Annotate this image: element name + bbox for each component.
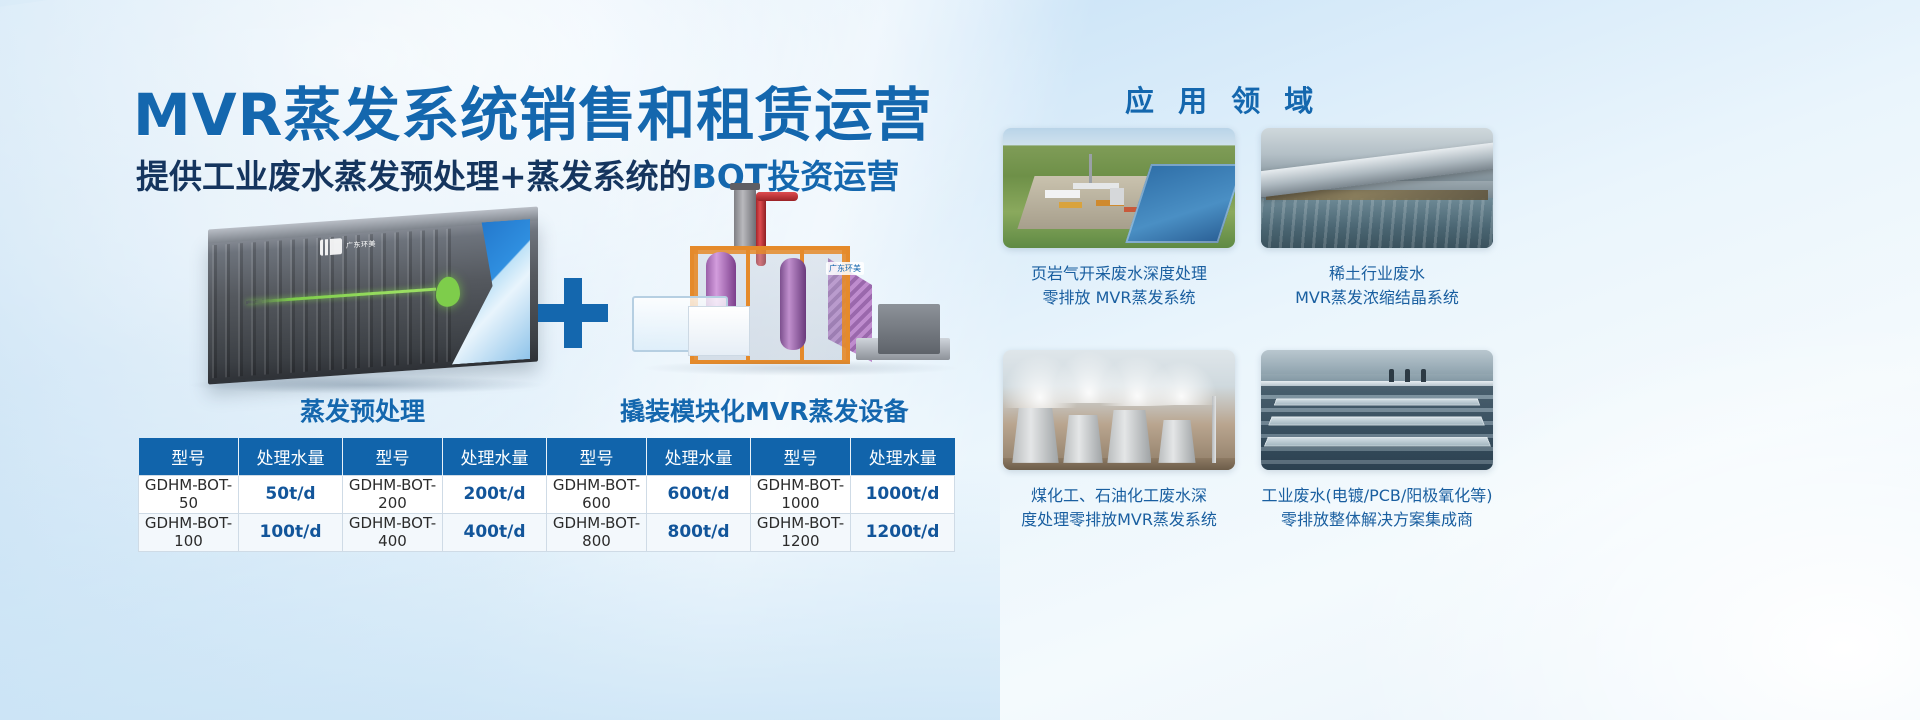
brand-name-label-2: 广东环美 (826, 262, 864, 275)
table-cell-model: GDHM-BOT-200 (343, 475, 443, 513)
table-cell-capacity: 1000t/d (851, 475, 955, 513)
application-card-caption: 工业废水(电镀/PCB/阳极氧化等) 零排放整体解决方案集成商 (1261, 484, 1493, 532)
table-cell-capacity: 800t/d (647, 513, 751, 551)
table-cell-capacity: 200t/d (443, 475, 547, 513)
table-header-cell: 型号 (343, 438, 443, 475)
shale-gas-site-image (1003, 128, 1235, 248)
applications-title: 应 用 领 域 (1125, 78, 1320, 120)
table-cell-model: GDHM-BOT-50 (139, 475, 239, 513)
equipment-label-mvr-skid: 撬装模块化MVR蒸发设备 (620, 392, 908, 428)
mvr-skid-equipment-image: 广东环美 (630, 188, 970, 398)
table-header-cell: 处理水量 (443, 438, 547, 475)
table-row: GDHM-BOT-50 50t/d GDHM-BOT-200 200t/d GD… (139, 475, 955, 513)
application-card-caption: 页岩气开采废水深度处理 零排放 MVR蒸发系统 (1003, 262, 1235, 310)
table-cell-capacity: 600t/d (647, 475, 751, 513)
caption-line-2: MVR蒸发浓缩结晶系统 (1261, 286, 1493, 310)
table-header-cell: 型号 (139, 438, 239, 475)
application-card-caption: 稀土行业废水 MVR蒸发浓缩结晶系统 (1261, 262, 1493, 310)
table-cell-model: GDHM-BOT-600 (547, 475, 647, 513)
application-card-industrial-wastewater: 工业废水(电镀/PCB/阳极氧化等) 零排放整体解决方案集成商 (1261, 350, 1493, 532)
table-header-cell: 处理水量 (647, 438, 751, 475)
spec-table: 型号 处理水量 型号 处理水量 型号 处理水量 型号 处理水量 GDHM-BOT… (138, 438, 955, 552)
application-card-rare-earth: 稀土行业废水 MVR蒸发浓缩结晶系统 (1261, 128, 1493, 310)
table-cell-capacity: 100t/d (239, 513, 343, 551)
wastewater-treatment-tanks-image (1261, 350, 1493, 470)
equipment-label-pretreatment: 蒸发预处理 (300, 392, 425, 428)
table-cell-model: GDHM-BOT-100 (139, 513, 239, 551)
caption-line-1: 工业废水(电镀/PCB/阳极氧化等) (1261, 484, 1493, 508)
caption-line-1: 页岩气开采废水深度处理 (1003, 262, 1235, 286)
table-header-cell: 型号 (547, 438, 647, 475)
table-header-cell: 处理水量 (851, 438, 955, 475)
table-cell-capacity: 400t/d (443, 513, 547, 551)
table-header-cell: 处理水量 (239, 438, 343, 475)
coal-chemical-plant-image (1003, 350, 1235, 470)
table-cell-capacity: 50t/d (239, 475, 343, 513)
left-content-column: MVR蒸发系统销售和租赁运营 提供工业废水蒸发预处理+蒸发系统的BOT投资运营 … (0, 0, 990, 720)
table-row: GDHM-BOT-100 100t/d GDHM-BOT-400 400t/d … (139, 513, 955, 551)
applications-column: 应 用 领 域 页岩气开采废水深度处理 零排放 MVR蒸发系统 稀土行业废水 (985, 0, 1920, 720)
table-cell-model: GDHM-BOT-1200 (751, 513, 851, 551)
brand-name-label-1: 广东环美 (346, 239, 376, 251)
plus-sign-icon (538, 278, 608, 348)
banner-subtitle-part1: 提供工业废水蒸发预处理+蒸发系统的 (136, 157, 692, 196)
evaporation-pretreatment-unit-image: 广东环美 (208, 216, 538, 384)
brand-mark-icon (320, 238, 342, 256)
clarifier-pipe-image (1261, 128, 1493, 248)
table-cell-model: GDHM-BOT-1000 (751, 475, 851, 513)
table-header-cell: 型号 (751, 438, 851, 475)
application-card-caption: 煤化工、石油化工废水深 度处理零排放MVR蒸发系统 (1003, 484, 1235, 532)
banner-title: MVR蒸发系统销售和租赁运营 (133, 68, 932, 152)
caption-line-2: 度处理零排放MVR蒸发系统 (1003, 508, 1235, 532)
caption-line-2: 零排放整体解决方案集成商 (1261, 508, 1493, 532)
application-card-coal-chemical: 煤化工、石油化工废水深 度处理零排放MVR蒸发系统 (1003, 350, 1235, 532)
application-card-shale-gas: 页岩气开采废水深度处理 零排放 MVR蒸发系统 (1003, 128, 1235, 310)
table-cell-model: GDHM-BOT-800 (547, 513, 647, 551)
caption-line-1: 稀土行业废水 (1261, 262, 1493, 286)
caption-line-2: 零排放 MVR蒸发系统 (1003, 286, 1235, 310)
caption-line-1: 煤化工、石油化工废水深 (1003, 484, 1235, 508)
table-cell-capacity: 1200t/d (851, 513, 955, 551)
table-header-row: 型号 处理水量 型号 处理水量 型号 处理水量 型号 处理水量 (139, 438, 955, 475)
table-cell-model: GDHM-BOT-400 (343, 513, 443, 551)
